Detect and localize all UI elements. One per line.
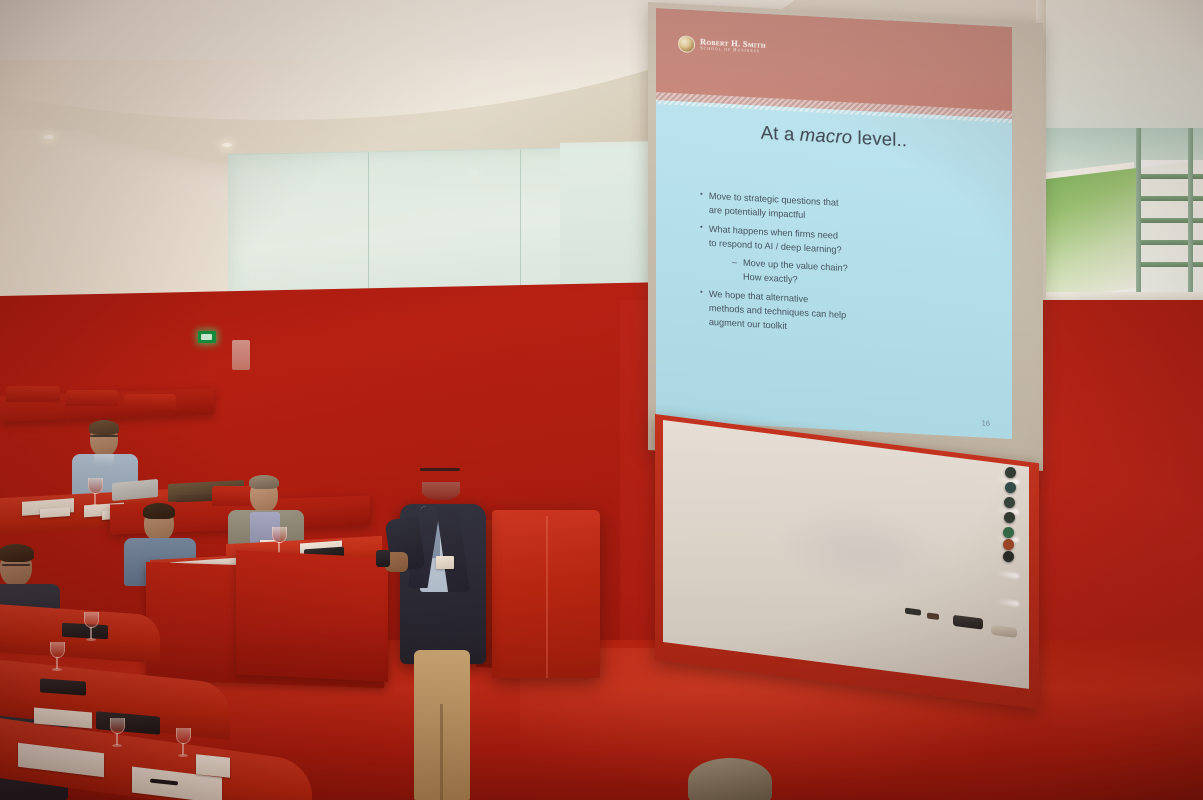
ceiling-downlight — [222, 143, 232, 147]
marker-icon — [927, 612, 939, 620]
bullet-marker: • — [700, 188, 703, 217]
slide-title-prefix: At a — [761, 122, 800, 145]
window-louvre-slats — [1140, 160, 1203, 292]
lecture-hall-photo: Robert H. Smith School of Business At a … — [0, 0, 1203, 800]
hair — [0, 544, 34, 562]
window-soffit — [1036, 0, 1203, 128]
glasses-icon — [2, 564, 30, 566]
name-card — [196, 754, 230, 778]
collar — [94, 454, 114, 468]
audience-member-bottom-edge — [688, 758, 778, 800]
bullet-text: We hope that alternativemethods and tech… — [709, 286, 846, 336]
slide-page-number: 16 — [982, 418, 990, 427]
slide-title-suffix: level.. — [852, 126, 907, 150]
magnet-icon — [1004, 497, 1015, 508]
whiteboard-magnets — [1003, 467, 1023, 587]
hair — [143, 503, 175, 519]
slide-bullet: • We hope that alternativemethods and te… — [700, 286, 970, 343]
seat-back — [66, 390, 118, 406]
presenter-glasses-icon — [420, 468, 460, 471]
window-mullion — [1188, 128, 1193, 298]
seat-back — [124, 394, 176, 410]
magnet-icon — [1003, 527, 1014, 538]
window-mullion — [1136, 128, 1141, 298]
presenter-name-badge — [436, 556, 454, 569]
hair — [249, 475, 279, 489]
hair — [688, 758, 772, 800]
magnet-icon — [1005, 482, 1016, 493]
marker-icon — [905, 608, 921, 616]
whiteboard-residue — [773, 494, 953, 607]
exit-sign-icon — [198, 331, 216, 343]
presenter-leg-seam — [440, 704, 443, 800]
glasses-icon — [90, 435, 118, 437]
magnet-icon — [1003, 539, 1014, 550]
eraser-icon — [953, 615, 983, 630]
bullet-marker: • — [700, 286, 703, 329]
magnet-icon — [1003, 551, 1014, 562]
bullet-marker: – — [732, 255, 737, 284]
bullet-marker: • — [700, 221, 703, 250]
university-seal-icon — [678, 35, 695, 53]
presenter-clicker — [376, 550, 390, 567]
wall-speaker — [232, 340, 250, 370]
presenter — [392, 452, 512, 800]
slide-title-italic: macro — [800, 124, 852, 148]
seating-tier-front-right — [236, 550, 388, 682]
slide-bullet-list: • Move to strategic questions thatare po… — [700, 188, 970, 347]
projection-screen: Robert H. Smith School of Business At a … — [656, 8, 1012, 439]
seat-back — [6, 386, 60, 402]
bullet-text: What happens when firms needto respond t… — [709, 221, 842, 257]
bullet-text: Move to strategic questions thatare pote… — [709, 189, 839, 224]
whiteboard-surface — [663, 420, 1029, 689]
hair — [89, 420, 119, 435]
magnet-icon — [1004, 512, 1015, 523]
lectern-edge — [546, 516, 548, 678]
magnet-icon — [1005, 467, 1016, 478]
bullet-text: Move up the value chain?How exactly? — [743, 256, 848, 290]
presenter-beard — [422, 482, 460, 500]
ceiling-downlight — [44, 135, 54, 139]
